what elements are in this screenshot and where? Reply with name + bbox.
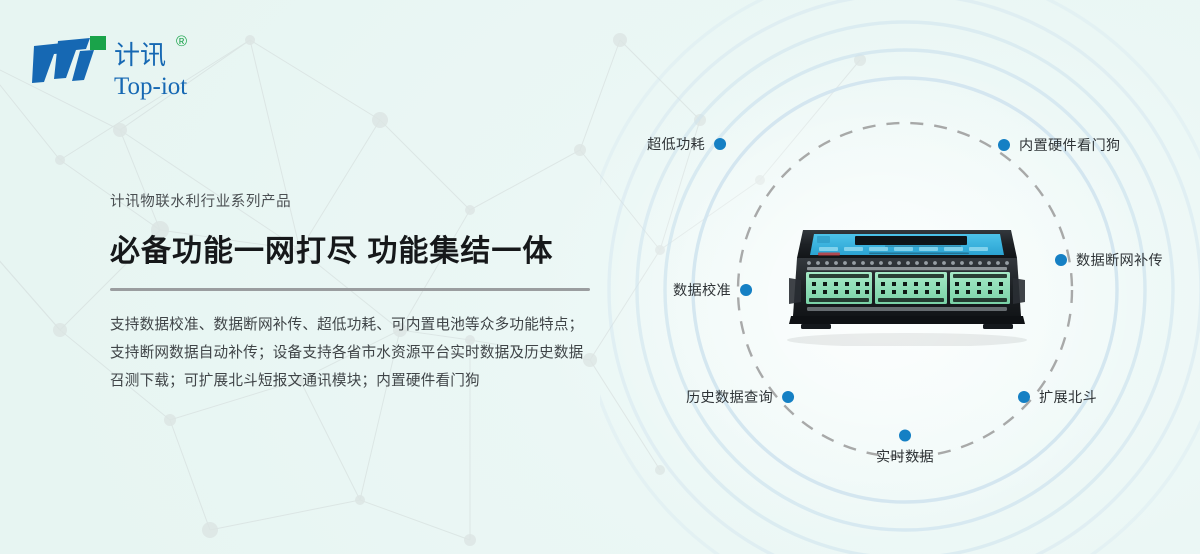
feature-node-label: 数据校准 [673,280,731,300]
device-keypad [819,247,988,251]
hero-body-line: 支持断网数据自动补传；设备支持各省市水资源平台实时数据及历史数据 [110,339,630,367]
page-title: 必备功能一网打尽 功能集结一体 [110,232,630,272]
hero-body: 支持数据校准、数据断网补传、超低功耗、可内置电池等众多功能特点； 支持断网数据自… [110,311,630,395]
device-lcd-screen [855,236,967,245]
device-image [773,218,1041,346]
logo-latin-name: Top-iot [114,73,187,100]
feature-node-label: 内置硬件看门狗 [1019,135,1120,155]
logo-green-accent [90,36,106,50]
feature-node-dot [998,139,1010,151]
logo-chinese-name: 计讯 [114,41,166,71]
feature-node-label: 历史数据查询 [686,387,773,407]
feature-node-ultra-low-power[interactable]: 超低功耗 [647,134,726,154]
feature-node-offline-resend[interactable]: 数据断网补传 [1055,250,1163,270]
title-divider [110,288,590,291]
brand-logo[interactable]: 计讯 ® Top-iot [28,28,228,102]
device-base-rail [789,316,1025,324]
feature-node-hardware-watchdog[interactable]: 内置硬件看门狗 [998,135,1120,155]
feature-node-dot [740,284,752,296]
feature-node-data-calibration[interactable]: 数据校准 [673,280,752,300]
device-terminal-blocks [806,272,1010,304]
logo-registered-icon: ® [176,33,187,50]
feature-node-label: 扩展北斗 [1039,387,1097,407]
feature-node-dot [899,430,911,442]
feature-node-beidou-expansion[interactable]: 扩展北斗 [1018,387,1097,407]
hero-body-line: 召测下载；可扩展北斗短报文通讯模块；内置硬件看门狗 [110,367,630,395]
feature-node-dot [1018,391,1030,403]
banner-stage: 计讯 ® Top-iot 计讯物联水利行业系列产品 必备功能一网打尽 功能集结一… [0,0,1200,554]
feature-node-dot [1055,254,1067,266]
device-label-strip [818,253,840,256]
logo-mark-strokes [32,38,94,83]
feature-node-realtime-data[interactable]: 实时数据 [876,430,934,467]
feature-node-label: 数据断网补传 [1076,250,1163,270]
hero-body-line: 支持数据校准、数据断网补传、超低功耗、可内置电池等众多功能特点； [110,311,630,339]
hero-eyebrow: 计讯物联水利行业系列产品 [110,192,630,212]
feature-node-history-query[interactable]: 历史数据查询 [686,387,794,407]
feature-node-label: 超低功耗 [647,134,705,154]
feature-node-dot [782,391,794,403]
hero-copy: 计讯物联水利行业系列产品 必备功能一网打尽 功能集结一体 支持数据校准、数据断网… [110,192,630,395]
feature-node-dot [714,138,726,150]
feature-node-label: 实时数据 [876,447,934,467]
